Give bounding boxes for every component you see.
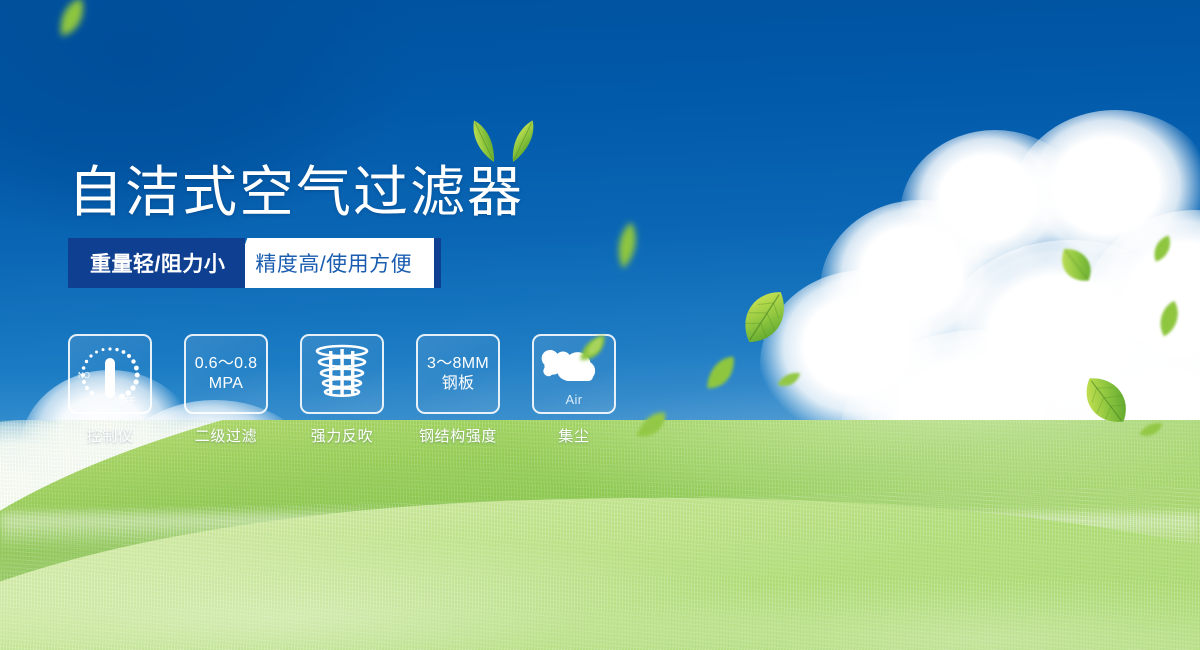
feature-item-controller[interactable]: NO OFF 控制仪 [68,334,152,446]
sprout-leaves-icon [468,110,540,166]
feature-label: 强力反吹 [311,425,373,446]
gauge-icon: NO OFF [68,334,152,414]
leaf-icon [1137,421,1165,440]
feature-label: 集尘 [558,425,589,446]
feature-item-two-stage-filter[interactable]: 0.6～0.8 MPA 二级过滤 [184,334,268,446]
feature-item-steel-strength[interactable]: 3～8MM 钢板 钢结构强度 [416,334,500,446]
feature-badge-bar: 重量轻/阻力小 精度高/使用方便 [68,238,441,288]
pressure-line-1: 0.6～0.8 [195,354,258,374]
feature-label: 钢结构强度 [419,425,497,446]
feature-label: 二级过滤 [195,425,257,446]
banner-stage: 自洁式空气过滤器 重量轻/阻力小 精度高/使用方便 [0,0,1200,650]
grass-highlight [0,420,1200,650]
page-title: 自洁式空气过滤器 [68,147,524,227]
feature-list: NO OFF 控制仪 0.6～0.8 MPA 二级过滤 [68,334,616,446]
pressure-line-2: MPA [195,374,258,394]
feature-item-strong-backblow[interactable]: 强力反吹 [300,334,384,446]
steel-plate-text-icon: 3～8MM 钢板 [416,334,500,414]
badge-bar-edge [434,238,441,288]
steel-line-1: 3～8MM [427,354,489,374]
badge-primary[interactable]: 重量轻/阻力小 [68,238,245,288]
grass-field [0,420,1200,650]
feature-label: 控制仪 [87,425,134,446]
air-caption: Air [534,392,614,407]
badge-secondary[interactable]: 精度高/使用方便 [229,238,434,288]
gauge-off-label: OFF [119,396,135,405]
gauge-no-label: NO [78,371,90,380]
steel-line-2: 钢板 [427,374,489,394]
pressure-text-icon: 0.6～0.8 MPA [184,334,268,414]
filter-coil-icon [300,334,384,414]
